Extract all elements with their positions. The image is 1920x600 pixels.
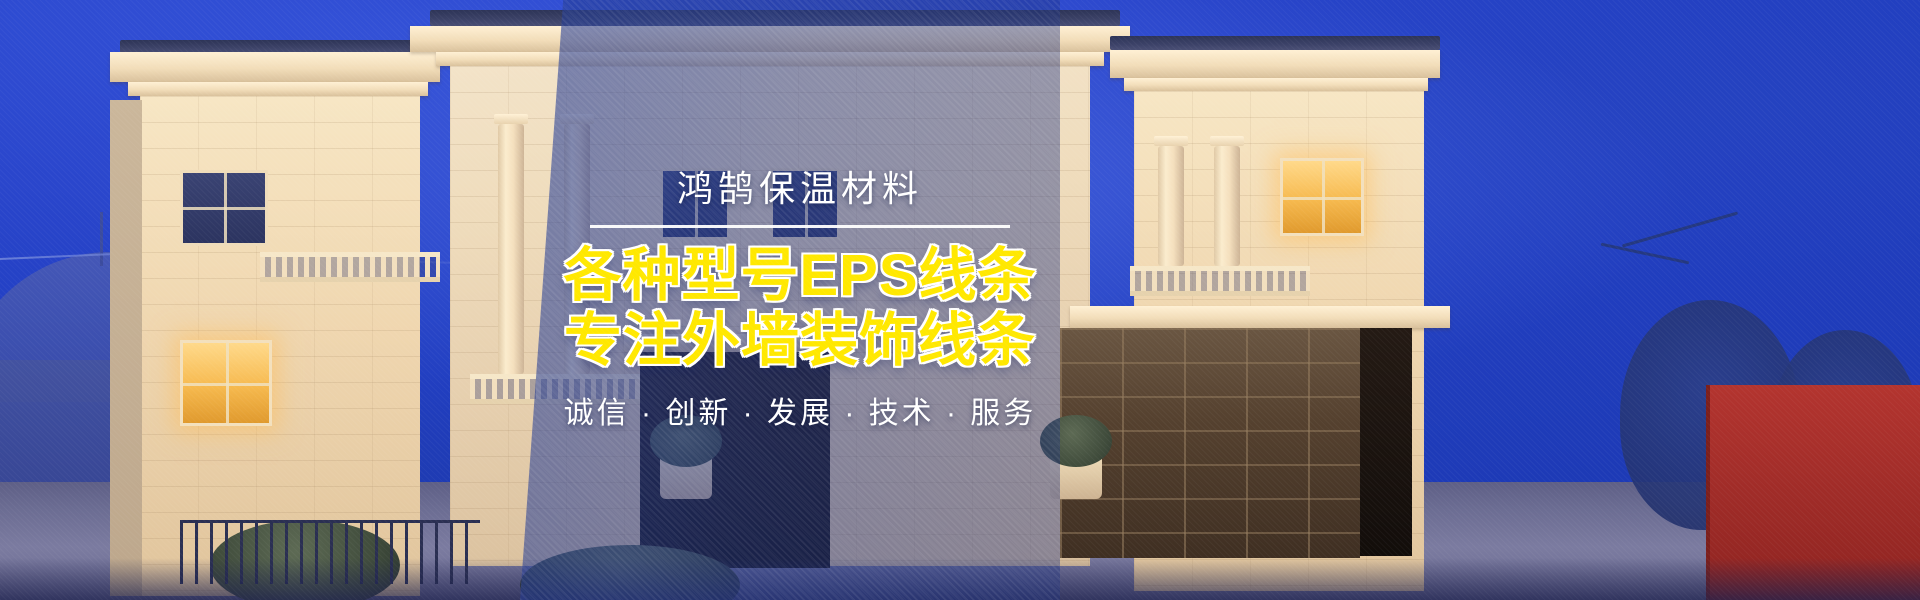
left-wing-shadow-face xyxy=(110,100,142,596)
brand-name: 鸿鹄保温材料 xyxy=(677,171,923,207)
right-wing-window-lit xyxy=(1280,158,1364,236)
title-divider xyxy=(590,225,1010,228)
column-capital-r2 xyxy=(1210,136,1244,146)
right-wing-roofline xyxy=(1110,36,1440,50)
background-mast xyxy=(100,212,103,266)
tagline: 诚信 · 创新 · 发展 · 技术 · 服务 xyxy=(564,399,1037,429)
garage-side-opening xyxy=(1360,328,1412,556)
right-wing-balustrade xyxy=(1130,266,1310,296)
window-mullion-h xyxy=(1283,197,1361,200)
column-capital-r1 xyxy=(1154,136,1188,146)
right-wing-cornice xyxy=(1110,50,1440,78)
window-mullion-h xyxy=(183,383,269,386)
hero-banner: 鸿鹄保温材料 各种型号EPS线条 专注外墙装饰线条 诚信 · 创新 · 发展 ·… xyxy=(0,0,1920,600)
banner-copy: 鸿鹄保温材料 各种型号EPS线条 专注外墙装饰线条 诚信 · 创新 · 发展 ·… xyxy=(520,0,1080,600)
right-wing-column-2 xyxy=(1214,146,1240,266)
garage-cornice xyxy=(1070,306,1450,328)
right-wing-cornice-2 xyxy=(1124,78,1428,91)
left-wing-cornice-2 xyxy=(128,82,428,96)
left-wing-window-lit xyxy=(180,340,272,426)
villa-left-wing xyxy=(110,40,440,600)
right-wing-column-1 xyxy=(1158,146,1184,266)
window-mullion-h xyxy=(183,207,265,210)
villa-right-wing xyxy=(1110,28,1440,600)
left-wing-window-upper xyxy=(180,170,268,246)
headline-line-2: 专注外墙装饰线条 xyxy=(564,309,1036,374)
left-wing-cornice xyxy=(110,52,440,82)
headline-line-1: 各种型号EPS线条 xyxy=(563,244,1036,309)
